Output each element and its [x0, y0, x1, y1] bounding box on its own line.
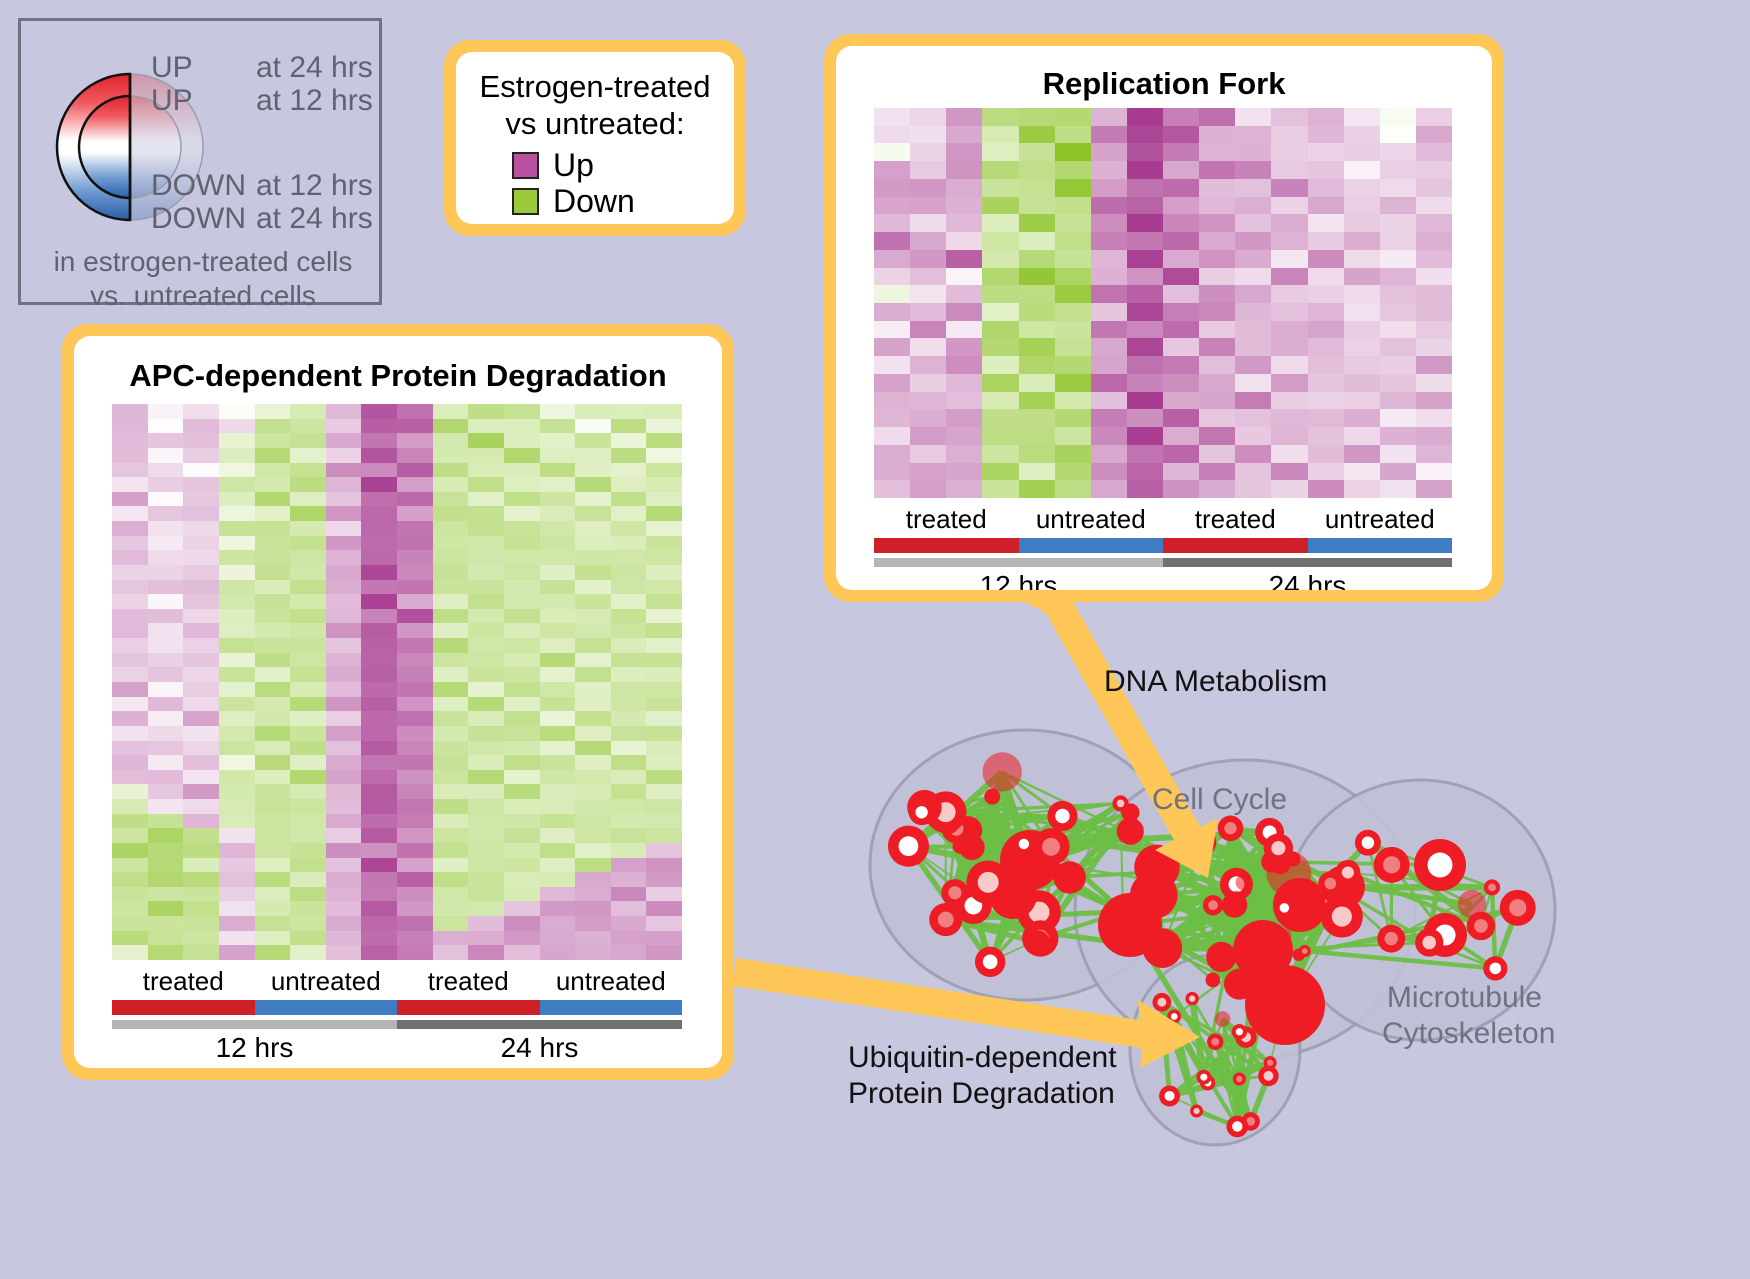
heatmap-cell [982, 303, 1018, 321]
heatmap-cell [946, 392, 982, 410]
heatmap-cell [255, 872, 291, 887]
heatmap-cell [361, 477, 397, 492]
heatmap-cell [646, 638, 682, 653]
heatmap-cell [1344, 392, 1380, 410]
heatmap-cell [1019, 303, 1055, 321]
heatmap-cell [219, 433, 255, 448]
heatmap-cell [946, 161, 982, 179]
heatmap-cell [219, 667, 255, 682]
heatmap-cell [290, 858, 326, 873]
heatmap-cell [326, 872, 362, 887]
heatmap-cell [148, 814, 184, 829]
heatmap-cell [361, 872, 397, 887]
up-swatch-icon [512, 152, 539, 179]
heatmap-cell [540, 828, 576, 843]
network-node [1053, 861, 1085, 893]
heatmap-cell [112, 726, 148, 741]
heatmap-cell [1091, 179, 1127, 197]
heatmap-cell [1271, 126, 1307, 144]
heatmap-cell [468, 521, 504, 536]
heatmap-cell [397, 799, 433, 814]
heatmap-cell [1163, 108, 1199, 126]
heatmap-cell [910, 143, 946, 161]
heatmap-cell [326, 755, 362, 770]
heatmap-cell [575, 419, 611, 434]
heatmap-cell [1019, 409, 1055, 427]
heatmap-cell [646, 828, 682, 843]
heatmap-cell [504, 565, 540, 580]
heatmap-cell [611, 887, 647, 902]
heatmap-cell [575, 726, 611, 741]
heatmap-cell [290, 931, 326, 946]
heatmap-cell [946, 126, 982, 144]
heatmap-cell [575, 565, 611, 580]
heatmap-cell [540, 433, 576, 448]
heatmap-cell [946, 480, 982, 498]
heatmap-cell [361, 536, 397, 551]
network-node-core [1362, 836, 1374, 848]
heatmap-cell [611, 623, 647, 638]
heatmap-cell [874, 427, 910, 445]
heatmap-cell [468, 799, 504, 814]
colorwheel-caption-line1: in estrogen-treated cells [21, 245, 385, 279]
heatmap-cell [148, 931, 184, 946]
heatmap-cell [646, 814, 682, 829]
replication-fork-title: Replication Fork [836, 66, 1492, 102]
heatmap-cell [982, 179, 1018, 197]
heatmap-cell [575, 814, 611, 829]
heatmap-cell [397, 931, 433, 946]
heatmap-cell [1308, 285, 1344, 303]
heatmap-cell [183, 667, 219, 682]
heatmap-cell [433, 419, 469, 434]
heatmap-cell [1308, 214, 1344, 232]
heatmap-cell [646, 726, 682, 741]
heatmap-cell [183, 887, 219, 902]
heatmap-cell [219, 506, 255, 521]
heatmap-cell [1344, 161, 1380, 179]
heatmap-cell [255, 770, 291, 785]
heatmap-cell [575, 433, 611, 448]
heatmap-cell [397, 814, 433, 829]
heatmap-cell [646, 609, 682, 624]
heatmap-cell [1308, 427, 1344, 445]
heatmap-cell [183, 419, 219, 434]
replication-fork-sample-labels: treateduntreatedtreateduntreated [874, 504, 1452, 534]
treatment-colorbar-segment [540, 1000, 683, 1015]
heatmap-cell [326, 901, 362, 916]
heatmap-cell [646, 887, 682, 902]
heatmap-cell [1127, 179, 1163, 197]
heatmap-cell [290, 770, 326, 785]
heatmap-cell [1091, 303, 1127, 321]
network-node-core [1488, 884, 1496, 892]
heatmap-cell [183, 580, 219, 595]
heatmap-cell [433, 609, 469, 624]
heatmap-cell [361, 521, 397, 536]
heatmap-cell [1163, 392, 1199, 410]
heatmap-cell [148, 697, 184, 712]
heatmap-cell [611, 828, 647, 843]
heatmap-cell [219, 711, 255, 726]
heatmap-cell [611, 843, 647, 858]
network-node [982, 752, 1021, 791]
heatmap-cell [112, 755, 148, 770]
heatmap-cell [397, 887, 433, 902]
heatmap-cell [148, 506, 184, 521]
heatmap-cell [910, 285, 946, 303]
heatmap-cell [946, 303, 982, 321]
heatmap-cell [255, 492, 291, 507]
heatmap-cell [1235, 108, 1271, 126]
heatmap-cell [433, 433, 469, 448]
heatmap-cell [255, 477, 291, 492]
heatmap-cell [540, 858, 576, 873]
heatmap-cell [148, 667, 184, 682]
heatmap-cell [290, 463, 326, 478]
heatmap-cell [1416, 338, 1452, 356]
heatmap-cell [397, 667, 433, 682]
heatmap-cell [468, 916, 504, 931]
heatmap-cell [148, 755, 184, 770]
heatmap-cell [433, 945, 469, 960]
heatmap-cell [1271, 392, 1307, 410]
network-node-core [1428, 853, 1453, 878]
heatmap-cell [183, 682, 219, 697]
treatment-colorbar-segment [874, 538, 1019, 553]
heatmap-cell [148, 653, 184, 668]
heatmap-cell [874, 126, 910, 144]
heatmap-cell [326, 463, 362, 478]
heatmap-cell [183, 492, 219, 507]
heatmap-cell [1127, 268, 1163, 286]
heatmap-cell [433, 784, 469, 799]
heatmap-cell [1127, 409, 1163, 427]
heatmap-cell [148, 726, 184, 741]
network-node [1215, 1011, 1231, 1027]
heatmap-cell [611, 506, 647, 521]
heatmap-cell [1127, 232, 1163, 250]
sample-group-label: untreated [1308, 504, 1453, 534]
heatmap-cell [112, 741, 148, 756]
heatmap-cell [646, 711, 682, 726]
heatmap-cell [504, 814, 540, 829]
heatmap-cell [946, 179, 982, 197]
heatmap-cell [504, 404, 540, 419]
heatmap-cell [290, 843, 326, 858]
heatmap-cell [1344, 232, 1380, 250]
network-node [1205, 973, 1220, 988]
heatmap-cell [1163, 374, 1199, 392]
heatmap-cell [361, 726, 397, 741]
heatmap-cell [646, 770, 682, 785]
heatmap-cell [646, 492, 682, 507]
heatmap-cell [397, 623, 433, 638]
heatmap-cell [1055, 214, 1091, 232]
heatmap-cell [1019, 108, 1055, 126]
heatmap-cell [468, 623, 504, 638]
heatmap-cell [1055, 250, 1091, 268]
heatmap-cell [1055, 338, 1091, 356]
heatmap-cell [575, 872, 611, 887]
heatmap-cell [982, 126, 1018, 144]
heatmap-cell [433, 521, 469, 536]
network-node-core [1236, 1028, 1243, 1035]
heatmap-cell [290, 945, 326, 960]
heatmap-cell [219, 726, 255, 741]
heatmap-cell [575, 901, 611, 916]
heatmap-cell [1019, 321, 1055, 339]
heatmap-cell [1308, 161, 1344, 179]
network-node-core [1157, 998, 1166, 1007]
heatmap-cell [397, 492, 433, 507]
heatmap-cell [910, 179, 946, 197]
heatmap-cell [874, 409, 910, 427]
heatmap-cell [361, 653, 397, 668]
heatmap-cell [1380, 409, 1416, 427]
heatmap-cell [112, 506, 148, 521]
heatmap-cell [910, 303, 946, 321]
heatmap-cell [1271, 356, 1307, 374]
heatmap-cell [1235, 197, 1271, 215]
figure-canvas: UP at 24 hrs UP at 12 hrs DOWN at 12 hrs… [0, 0, 1750, 1279]
heatmap-cell [1127, 126, 1163, 144]
heatmap-cell [540, 741, 576, 756]
heatmap-cell [540, 872, 576, 887]
heatmap-cell [1091, 250, 1127, 268]
network-node-core [1267, 1060, 1273, 1066]
heatmap-cell [504, 828, 540, 843]
heatmap-cell [1127, 108, 1163, 126]
heatmap-cell [946, 143, 982, 161]
heatmap-cell [910, 321, 946, 339]
heatmap-cell [112, 887, 148, 902]
heatmap-cell [540, 463, 576, 478]
heatmap-cell [397, 901, 433, 916]
network-node-core [1224, 822, 1236, 834]
heatmap-cell [646, 565, 682, 580]
heatmap-cell [646, 594, 682, 609]
heatmap-cell [1199, 392, 1235, 410]
heatmap-cell [326, 916, 362, 931]
heatmap-cell [1308, 480, 1344, 498]
heatmap-cell [397, 433, 433, 448]
heatmap-cell [183, 594, 219, 609]
heatmap-cell [504, 536, 540, 551]
heatmap-cell [468, 594, 504, 609]
heatmap-cell [112, 784, 148, 799]
network-node [1189, 829, 1216, 856]
heatmap-cell [148, 682, 184, 697]
heatmap-cell [874, 374, 910, 392]
heatmap-cell [575, 916, 611, 931]
heatmap-cell [361, 697, 397, 712]
heatmap-cell [1019, 250, 1055, 268]
heatmap-cell [1271, 480, 1307, 498]
heatmap-cell [1091, 409, 1127, 427]
heatmap-cell [148, 580, 184, 595]
heatmap-cell [361, 858, 397, 873]
heatmap-cell [540, 492, 576, 507]
heatmap-cell [1127, 463, 1163, 481]
heatmap-cell [575, 711, 611, 726]
heatmap-cell [575, 463, 611, 478]
heatmap-cell [183, 814, 219, 829]
heatmap-cell [575, 506, 611, 521]
heatmap-cell [982, 250, 1018, 268]
heatmap-cell [1199, 161, 1235, 179]
cluster-label-dna-metabolism: DNA Metabolism [1104, 664, 1327, 700]
heatmap-cell [1019, 232, 1055, 250]
heatmap-cell [326, 477, 362, 492]
heatmap-cell [326, 419, 362, 434]
heatmap-cell [148, 887, 184, 902]
estrogen-legend-title-line1: Estrogen-treated [456, 68, 734, 105]
heatmap-cell [361, 945, 397, 960]
heatmap-cell [504, 433, 540, 448]
heatmap-cell [646, 945, 682, 960]
heatmap-cell [290, 404, 326, 419]
network-node-core [1332, 906, 1352, 926]
heatmap-cell [540, 814, 576, 829]
heatmap-cell [1163, 214, 1199, 232]
heatmap-cell [326, 653, 362, 668]
colorwheel-key-down24: DOWN [151, 202, 256, 235]
heatmap-cell [504, 492, 540, 507]
heatmap-cell [255, 858, 291, 873]
heatmap-cell [433, 594, 469, 609]
heatmap-cell [1235, 143, 1271, 161]
heatmap-cell [1091, 161, 1127, 179]
heatmap-cell [1019, 285, 1055, 303]
heatmap-cell [148, 463, 184, 478]
colorwheel-time-up12: at 12 hrs [256, 84, 373, 117]
heatmap-cell [433, 653, 469, 668]
network-node-core [1236, 1076, 1242, 1082]
heatmap-cell [910, 161, 946, 179]
heatmap-cell [326, 550, 362, 565]
heatmap-cell [433, 550, 469, 565]
heatmap-cell [326, 843, 362, 858]
heatmap-cell [112, 565, 148, 580]
heatmap-cell [183, 550, 219, 565]
network-node-core [1171, 1013, 1178, 1020]
heatmap-cell [468, 550, 504, 565]
heatmap-cell [646, 404, 682, 419]
heatmap-cell [1163, 356, 1199, 374]
heatmap-cell [946, 445, 982, 463]
heatmap-cell [290, 741, 326, 756]
heatmap-cell [646, 697, 682, 712]
heatmap-cell [1271, 268, 1307, 286]
heatmap-cell [575, 521, 611, 536]
heatmap-cell [183, 741, 219, 756]
heatmap-cell [433, 858, 469, 873]
heatmap-cell [575, 580, 611, 595]
network-node [1236, 875, 1252, 891]
heatmap-cell [1019, 143, 1055, 161]
replication-fork-timepoint-labels: 12 hrs24 hrs [874, 570, 1452, 590]
heatmap-cell [361, 770, 397, 785]
sample-group-label: treated [112, 966, 255, 996]
heatmap-cell [504, 623, 540, 638]
heatmap-cell [326, 506, 362, 521]
heatmap-cell [1235, 409, 1271, 427]
heatmap-cell [433, 843, 469, 858]
pathway-network-diagram [800, 620, 1750, 1279]
heatmap-cell [611, 594, 647, 609]
heatmap-cell [874, 179, 910, 197]
heatmap-cell [148, 741, 184, 756]
heatmap-cell [183, 448, 219, 463]
heatmap-cell [433, 404, 469, 419]
heatmap-cell [1055, 445, 1091, 463]
legend-label-down: Down [553, 184, 635, 218]
heatmap-cell [575, 536, 611, 551]
heatmap-cell [361, 682, 397, 697]
heatmap-cell [540, 711, 576, 726]
heatmap-cell [611, 931, 647, 946]
heatmap-cell [183, 404, 219, 419]
heatmap-cell [575, 404, 611, 419]
network-node-core [948, 886, 961, 899]
heatmap-cell [1235, 374, 1271, 392]
heatmap-cell [540, 770, 576, 785]
heatmap-cell [504, 609, 540, 624]
heatmap-cell [433, 477, 469, 492]
heatmap-cell [183, 916, 219, 931]
heatmap-cell [646, 419, 682, 434]
heatmap-cell [575, 609, 611, 624]
heatmap-cell [255, 697, 291, 712]
heatmap-cell [575, 931, 611, 946]
heatmap-cell [468, 638, 504, 653]
heatmap-cell [1199, 321, 1235, 339]
sample-group-label: treated [1163, 504, 1308, 534]
heatmap-cell [946, 427, 982, 445]
heatmap-cell [255, 945, 291, 960]
heatmap-cell [1163, 480, 1199, 498]
cluster-label-microtubule-cytoskeleton: Microtubule Cytoskeleton [1382, 980, 1542, 1052]
heatmap-cell [397, 711, 433, 726]
treatment-colorbar-segment [1163, 538, 1308, 553]
heatmap-cell [148, 945, 184, 960]
heatmap-cell [1308, 356, 1344, 374]
heatmap-cell [326, 536, 362, 551]
heatmap-cell [1019, 374, 1055, 392]
heatmap-cell [361, 901, 397, 916]
heatmap-cell [646, 580, 682, 595]
heatmap-cell [290, 550, 326, 565]
heatmap-cell [112, 609, 148, 624]
heatmap-cell [1163, 463, 1199, 481]
heatmap-cell [646, 521, 682, 536]
heatmap-cell [255, 580, 291, 595]
heatmap-cell [611, 901, 647, 916]
heatmap-cell [290, 872, 326, 887]
heatmap-cell [219, 741, 255, 756]
heatmap-cell [504, 799, 540, 814]
heatmap-cell [1271, 143, 1307, 161]
heatmap-cell [1235, 338, 1271, 356]
heatmap-cell [1380, 143, 1416, 161]
heatmap-cell [468, 697, 504, 712]
heatmap-cell [1344, 303, 1380, 321]
heatmap-cell [646, 667, 682, 682]
treatment-colorbar-segment [397, 1000, 540, 1015]
heatmap-cell [504, 697, 540, 712]
heatmap-cell [1380, 356, 1416, 374]
